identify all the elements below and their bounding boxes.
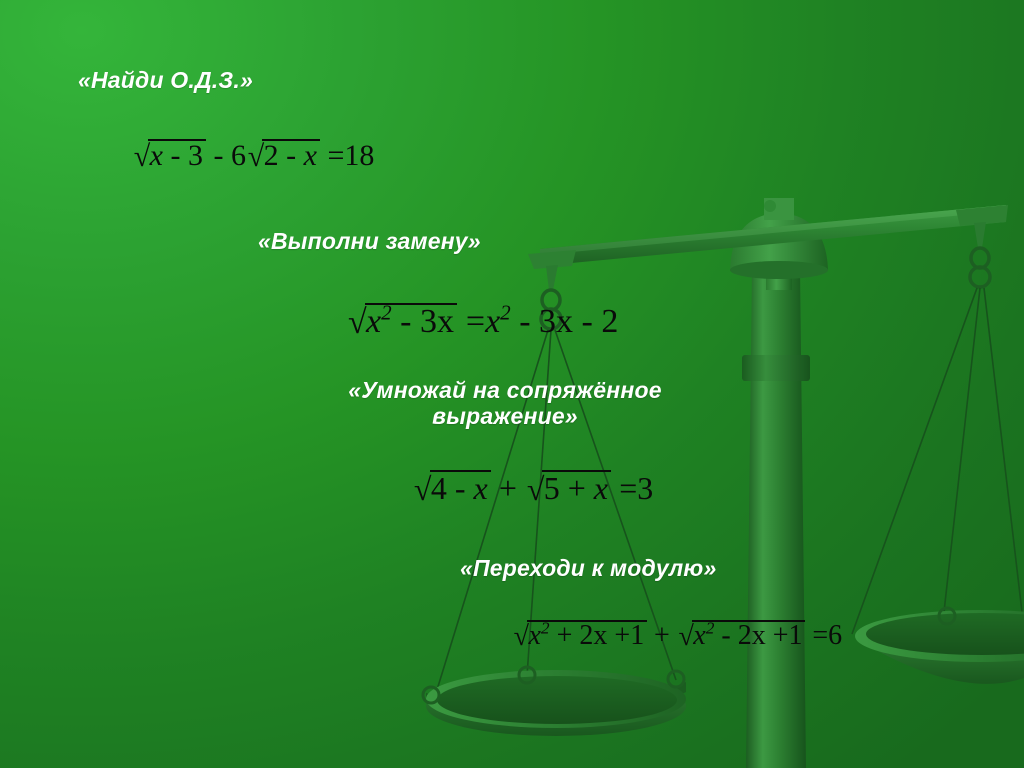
radical-group-1: √4 - x	[412, 470, 491, 504]
radical-group-1: √x2 + 2x +1	[512, 620, 647, 650]
step-3-equation: √4 - x + √5 + x =3	[412, 470, 653, 504]
step-4-equation: √x2 + 2x +1 + √x2 - 2x +1 =6	[512, 620, 842, 650]
step-1-equation: √x - 3 - 6√2 - x =18	[132, 139, 374, 171]
right-side-4: 6	[828, 620, 842, 651]
left-pan	[423, 667, 686, 736]
right-pan	[855, 608, 1024, 684]
radicand-2: x2 - 2x +1	[692, 620, 805, 650]
scale-fulcrum	[730, 198, 828, 279]
radicand-1: 4 - x	[430, 470, 491, 504]
right-rest: - 3x - 2	[511, 303, 619, 340]
operator-1: +	[647, 620, 677, 651]
scale-right-assembly	[852, 248, 1024, 684]
right-side-1: 18	[344, 139, 374, 172]
step-2-heading: «Выполни замену»	[258, 229, 481, 255]
radicand-1: x2 + 2x +1	[527, 620, 647, 650]
coefficient-1: 6	[231, 139, 246, 172]
right-hook-icon	[970, 248, 990, 287]
equals-sign: =	[320, 139, 344, 172]
radicand-1: x2 - 3x	[365, 303, 458, 339]
step-1-heading: «Найди О.Д.З.»	[78, 68, 253, 94]
radical-group-2: √5 + x	[525, 470, 611, 504]
radical-group-2: √x2 - 2x +1	[677, 620, 806, 650]
exponent: 2	[541, 619, 550, 638]
right-strings	[852, 288, 1022, 634]
radicand-1: x - 3	[148, 139, 206, 171]
radicand-2: 5 + x	[542, 470, 611, 504]
radical-group-1: √x - 3	[132, 139, 206, 171]
operator-1: +	[491, 470, 525, 506]
radical-group-1: √x2 - 3x	[346, 303, 457, 339]
scale-beam	[528, 200, 1008, 290]
equals-sign: =	[611, 470, 637, 506]
right-base: x	[485, 303, 500, 340]
scale-left-assembly	[423, 290, 686, 736]
step-3-heading: «Умножай на сопряжённое выражение»	[335, 378, 675, 430]
exponent: 2	[381, 301, 392, 325]
equals-sign: =	[805, 620, 828, 651]
operator-1: -	[206, 139, 231, 172]
scale-column	[742, 250, 810, 768]
radicand-2: 2 - x	[262, 139, 320, 171]
step-4-heading: «Переходи к модулю»	[460, 556, 717, 582]
right-side-3: 3	[637, 470, 653, 506]
right-exponent: 2	[500, 301, 511, 325]
slide-canvas: «Найди О.Д.З.» √x - 3 - 6√2 - x =18 «Вып…	[0, 0, 1024, 768]
step-2-equation: √x2 - 3x =x2 - 3x - 2	[346, 303, 618, 339]
equals-sign: =	[457, 303, 485, 340]
radical-group-2: √2 - x	[246, 139, 320, 171]
